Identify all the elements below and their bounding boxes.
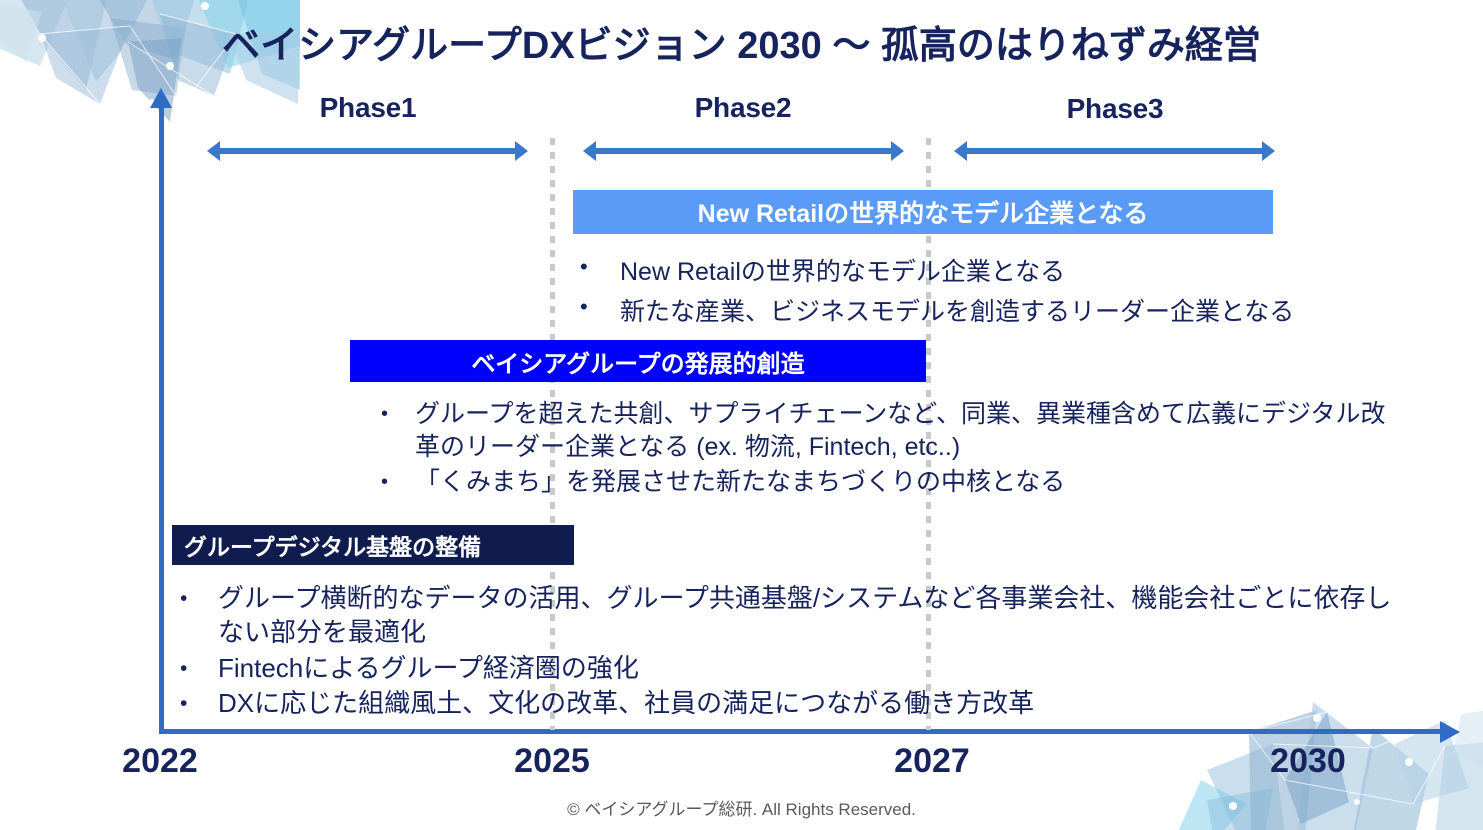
slide-canvas: ベイシアグループDXビジョン 2030 ～ 孤高のはりねずみ経営 Phase1 … (0, 0, 1483, 830)
phase-span-arrow-1 (207, 141, 528, 161)
section-heading-phase2: ベイシアグループの発展的創造 (350, 340, 926, 382)
bullet-icon: • (580, 292, 620, 318)
list-item-text: Fintechによるグループ経済圏の強化 (218, 652, 1395, 686)
section-bullets-phase3: • New Retailの世界的なモデル企業となる • 新たな産業、ビジネスモデ… (580, 252, 1340, 332)
arrow-right-tip-icon (891, 141, 904, 161)
axis-year-2025: 2025 (452, 742, 652, 781)
bullet-icon: • (381, 466, 415, 492)
arrow-right-tip-icon (515, 141, 528, 161)
page-title: ベイシアグループDXビジョン 2030 ～ 孤高のはりねずみ経営 (0, 14, 1483, 69)
phase-span-arrow-3 (954, 141, 1275, 161)
x-axis-timeline-line (159, 729, 1447, 734)
list-item-text: グループを超えた共創、サプライチェーンなど、同業、異業種含めて広義にデジタル改革… (415, 398, 1391, 464)
list-item: • 新たな産業、ビジネスモデルを創造するリーダー企業となる (580, 292, 1340, 328)
list-item: • 「くみまち」を発展させた新たなまちづくりの中核となる (381, 466, 1391, 499)
section-bullets-phase2: • グループを超えた共創、サプライチェーンなど、同業、異業種含めて広義にデジタル… (381, 398, 1391, 501)
phase-label-2: Phase2 (583, 92, 903, 124)
y-axis-arrowhead-icon (150, 88, 172, 108)
axis-year-2027: 2027 (832, 742, 1032, 781)
arrow-right-tip-icon (1262, 141, 1275, 161)
x-axis-arrowhead-icon (1440, 721, 1460, 743)
arrow-shaft (965, 148, 1264, 154)
section-bullets-phase1: • グループ横断的なデータの活用、グループ共通基盤/システムなど各事業会社、機能… (180, 582, 1395, 723)
copyright-footer: © ベイシアグループ総研. All Rights Reserved. (0, 795, 1483, 820)
axis-year-2022: 2022 (60, 742, 260, 781)
list-item: • グループ横断的なデータの活用、グループ共通基盤/システムなど各事業会社、機能… (180, 582, 1395, 650)
list-item: • Fintechによるグループ経済圏の強化 (180, 652, 1395, 686)
axis-year-2030: 2030 (1208, 742, 1408, 781)
list-item: • New Retailの世界的なモデル企業となる (580, 252, 1340, 288)
phase-label-3: Phase3 (955, 93, 1275, 125)
arrow-shaft (218, 148, 517, 154)
phase-span-arrow-2 (583, 141, 904, 161)
arrow-shaft (594, 148, 893, 154)
section-heading-phase1: グループデジタル基盤の整備 (172, 525, 574, 565)
list-item-text: DXに応じた組織風土、文化の改革、社員の満足につながる働き方改革 (218, 687, 1395, 721)
bullet-icon: • (381, 398, 415, 424)
bullet-icon: • (180, 687, 218, 714)
bullet-icon: • (180, 652, 218, 679)
phase-label-1: Phase1 (208, 92, 528, 124)
bullet-icon: • (580, 252, 620, 278)
list-item-text: グループ横断的なデータの活用、グループ共通基盤/システムなど各事業会社、機能会社… (218, 582, 1395, 650)
bullet-icon: • (180, 582, 218, 609)
y-axis-line (159, 104, 164, 734)
list-item: • DXに応じた組織風土、文化の改革、社員の満足につながる働き方改革 (180, 687, 1395, 721)
list-item-text: 新たな産業、ビジネスモデルを創造するリーダー企業となる (620, 292, 1340, 328)
section-heading-phase3: New Retailの世界的なモデル企業となる (573, 190, 1273, 234)
list-item-text: 「くみまち」を発展させた新たなまちづくりの中核となる (415, 466, 1391, 499)
list-item-text: New Retailの世界的なモデル企業となる (620, 252, 1340, 288)
list-item: • グループを超えた共創、サプライチェーンなど、同業、異業種含めて広義にデジタル… (381, 398, 1391, 464)
